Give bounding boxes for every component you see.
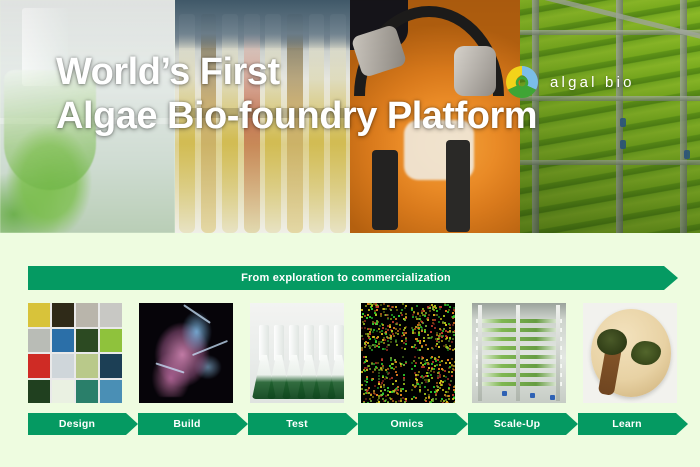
step-omics[interactable]: Omics (358, 413, 468, 435)
step-learn-label: Learn (578, 413, 676, 435)
step-test-label: Test (248, 413, 346, 435)
process-steps: Design Build Test Omics Scale-Up (28, 413, 678, 435)
process-banner: From exploration to commercialization (28, 266, 678, 290)
process-thumbnails (28, 303, 678, 403)
step-build[interactable]: Build (138, 413, 248, 435)
brand-wordmark: algal bio (550, 74, 635, 91)
step-build-label: Build (138, 413, 236, 435)
step-test[interactable]: Test (248, 413, 358, 435)
step-design-label: Design (28, 413, 126, 435)
thumbnail-photobioreactor-shelves-image[interactable] (472, 303, 566, 403)
thumbnail-microscopy-grid-image[interactable] (28, 303, 122, 403)
hero-banner: World’s First Algae Bio-foundry Platform… (0, 0, 700, 233)
thumbnail-algae-powder-plate-image[interactable] (583, 303, 677, 403)
banner-arrow-tip (664, 266, 678, 290)
thumbnail-erlenmeyer-flasks-image[interactable] (250, 303, 344, 403)
thumbnail-dna-structure-image[interactable] (139, 303, 233, 403)
step-design[interactable]: Design (28, 413, 138, 435)
process-section: From exploration to commercialization (0, 233, 700, 467)
thumbnail-dna-microarray-image[interactable] (361, 303, 455, 403)
step-scale-up-label: Scale-Up (468, 413, 566, 435)
brand-logo: algal bio (503, 63, 635, 101)
algal-bio-swirl-logo-icon (503, 63, 541, 101)
step-learn[interactable]: Learn (578, 413, 688, 435)
process-banner-label: From exploration to commercialization (28, 266, 664, 290)
step-omics-label: Omics (358, 413, 456, 435)
marketing-slide: World’s First Algae Bio-foundry Platform… (0, 0, 700, 467)
step-scale-up[interactable]: Scale-Up (468, 413, 578, 435)
hero-title: World’s First Algae Bio-foundry Platform (56, 50, 537, 138)
